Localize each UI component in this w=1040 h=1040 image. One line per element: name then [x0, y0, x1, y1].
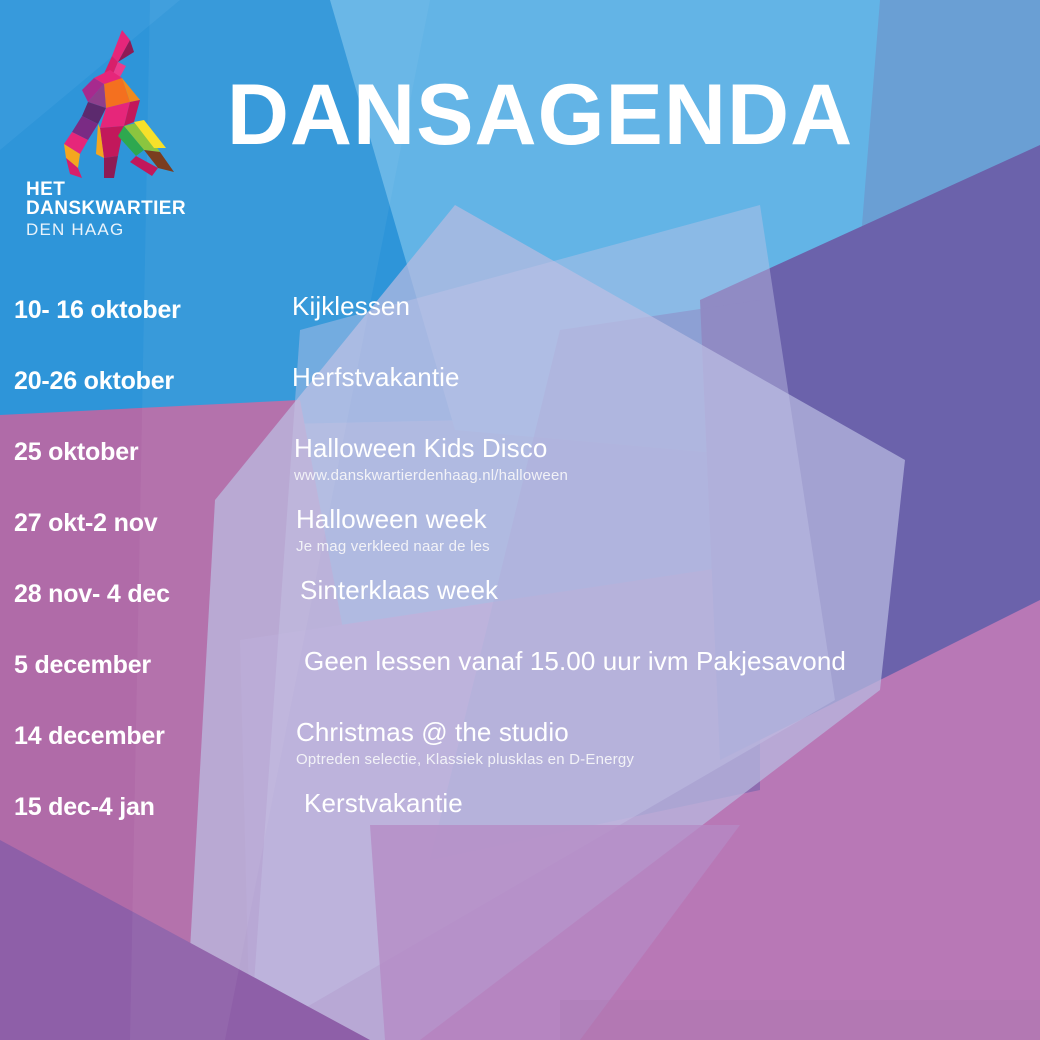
agenda-row: 5 december Geen lessen vanaf 15.00 uur i…: [0, 637, 1040, 708]
agenda-row-date: 20-26 oktober: [0, 353, 292, 396]
agenda-row-date: 25 oktober: [0, 424, 292, 467]
agenda-row-title: Geen lessen vanaf 15.00 uur ivm Pakjesav…: [304, 647, 1040, 677]
agenda-list: 10- 16 oktober Kijklessen 20-26 oktober …: [0, 282, 1040, 850]
agenda-row-title: Sinterklaas week: [300, 576, 1040, 606]
agenda-row-body: Christmas @ the studio Optreden selectie…: [292, 708, 1040, 768]
page-title: DANSAGENDA: [0, 72, 1040, 158]
agenda-row-subtitle: Optreden selectie, Klassiek plusklas en …: [296, 751, 1040, 768]
agenda-row-title: Christmas @ the studio: [296, 718, 1040, 748]
agenda-row-subtitle-url[interactable]: www.danskwartierdenhaag.nl/halloween: [294, 467, 1040, 484]
agenda-row-date: 15 dec-4 jan: [0, 779, 292, 822]
agenda-row: 25 oktober Halloween Kids Disco www.dans…: [0, 424, 1040, 495]
agenda-row: 28 nov- 4 dec Sinterklaas week: [0, 566, 1040, 637]
logo-line-den-haag: DEN HAAG: [26, 221, 216, 238]
agenda-row-body: Kijklessen: [292, 282, 1040, 322]
agenda-row-title: Kijklessen: [292, 292, 1040, 322]
agenda-row-date: 10- 16 oktober: [0, 282, 292, 325]
agenda-row-title: Kerstvakantie: [304, 789, 1040, 819]
bg-shape-bottom-strip: [560, 1000, 1040, 1040]
agenda-row: 20-26 oktober Herfstvakantie: [0, 353, 1040, 424]
logo-line-danskwartier: DANSKWARTIER: [26, 199, 216, 218]
agenda-row-body: Geen lessen vanaf 15.00 uur ivm Pakjesav…: [292, 637, 1040, 677]
agenda-row-title: Halloween Kids Disco: [294, 434, 1040, 464]
agenda-row-date: 5 december: [0, 637, 292, 680]
agenda-row: 10- 16 oktober Kijklessen: [0, 282, 1040, 353]
agenda-row: 15 dec-4 jan Kerstvakantie: [0, 779, 1040, 850]
agenda-row-date: 27 okt-2 nov: [0, 495, 292, 538]
agenda-row-body: Halloween Kids Disco www.danskwartierden…: [292, 424, 1040, 484]
dansagenda-poster: HET DANSKWARTIER DEN HAAG DANSAGENDA 10-…: [0, 0, 1040, 1040]
agenda-row-body: Halloween week Je mag verkleed naar de l…: [292, 495, 1040, 555]
agenda-row-body: Kerstvakantie: [292, 779, 1040, 819]
agenda-row-title: Halloween week: [296, 505, 1040, 535]
agenda-row: 14 december Christmas @ the studio Optre…: [0, 708, 1040, 779]
agenda-row: 27 okt-2 nov Halloween week Je mag verkl…: [0, 495, 1040, 566]
agenda-row-subtitle: Je mag verkleed naar de les: [296, 538, 1040, 555]
logo-wordmark: HET DANSKWARTIER DEN HAAG: [26, 180, 216, 238]
agenda-row-date: 14 december: [0, 708, 292, 751]
agenda-row-body: Herfstvakantie: [292, 353, 1040, 393]
logo-line-het: HET: [26, 180, 216, 199]
agenda-row-date: 28 nov- 4 dec: [0, 566, 292, 609]
agenda-row-body: Sinterklaas week: [292, 566, 1040, 606]
agenda-row-title: Herfstvakantie: [292, 363, 1040, 393]
